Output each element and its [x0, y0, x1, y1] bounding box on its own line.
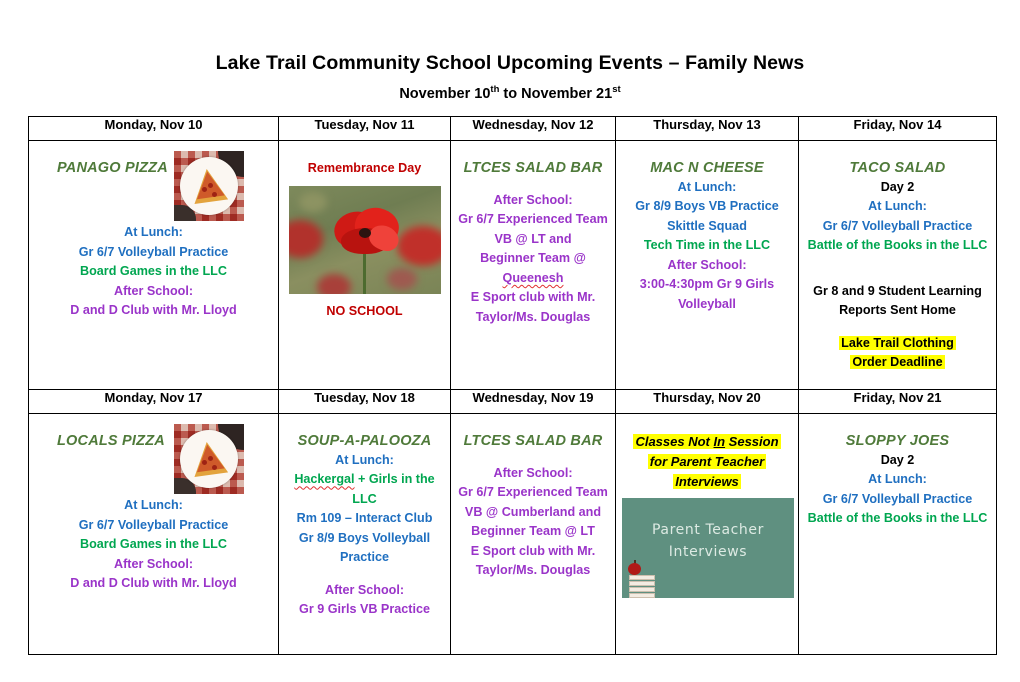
event-line: After School: — [457, 464, 609, 484]
day-header-thu-nov-20: Thursday, Nov 20 — [616, 390, 799, 414]
day-header-fri-nov-14: Friday, Nov 14 — [799, 117, 997, 141]
event-line: Rm 109 – Interact Club — [285, 509, 444, 529]
newsletter-page: Lake Trail Community School Upcoming Eve… — [0, 0, 1020, 682]
highlighted-notice: Classes Not In Session — [622, 432, 792, 452]
event-line: Volleyball — [622, 295, 792, 315]
day-header-tue-nov-18: Tuesday, Nov 18 — [279, 390, 451, 414]
event-line: Gr 6/7 Experienced Team — [457, 483, 609, 503]
poppy-field-image — [289, 186, 441, 294]
event-line: After School: — [285, 581, 444, 601]
week2-header-row: Monday, Nov 17 Tuesday, Nov 18 Wednesday… — [29, 390, 997, 414]
event-line: Taylor/Ms. Douglas — [457, 308, 609, 328]
lunch-menu-label: LTCES SALAD BAR — [457, 432, 609, 451]
event-line: At Lunch: — [285, 451, 444, 471]
no-school-label: NO SCHOOL — [285, 302, 444, 322]
event-line: At Lunch: — [805, 470, 990, 490]
lunch-menu-label: SLOPPY JOES — [805, 432, 990, 451]
event-line: Taylor/Ms. Douglas — [457, 561, 609, 581]
day-header-thu-nov-13: Thursday, Nov 13 — [616, 117, 799, 141]
event-line: 3:00-4:30pm Gr 9 Girls — [622, 275, 792, 295]
pizza-slice-icon — [174, 424, 244, 494]
lunch-menu-label: MAC N CHEESE — [622, 159, 792, 178]
event-line: After School: — [35, 282, 272, 302]
event-line: Day 2 — [805, 451, 990, 471]
event-line: Gr 6/7 Volleyball Practice — [805, 217, 990, 237]
highlight-text: Order Deadline — [850, 355, 944, 369]
event-line: VB @ LT and — [457, 230, 609, 250]
day-cell-thu-nov-20: Classes Not In Session for Parent Teache… — [616, 414, 799, 655]
day-cell-wed-nov-12: LTCES SALAD BAR After School: Gr 6/7 Exp… — [451, 141, 616, 390]
remembrance-day-label: Remembrance Day — [285, 159, 444, 179]
event-line: Day 2 — [805, 178, 990, 198]
date-range-start: November 10 — [399, 86, 490, 102]
day-cell-fri-nov-14: TACO SALAD Day 2 At Lunch: Gr 6/7 Volley… — [799, 141, 997, 390]
event-line: Tech Time in the LLC — [622, 236, 792, 256]
notice-post: Session — [725, 434, 778, 449]
pizza-slice-icon — [174, 151, 244, 221]
chalkboard-line: Parent Teacher — [622, 520, 794, 542]
day-cell-fri-nov-21: SLOPPY JOES Day 2 At Lunch: Gr 6/7 Volle… — [799, 414, 997, 655]
day-header-mon-nov-17: Monday, Nov 17 — [29, 390, 279, 414]
event-line: At Lunch: — [35, 223, 272, 243]
event-line: Gr 6/7 Volleyball Practice — [805, 490, 990, 510]
highlight-text: Interviews — [673, 474, 741, 489]
event-line: At Lunch: — [35, 496, 272, 516]
event-line: Skittle Squad — [622, 217, 792, 237]
week1-content-row: PANAGO PIZZA At Lunch: Gr 6/7 Volleyball… — [29, 141, 997, 390]
week1-header-row: Monday, Nov 10 Tuesday, Nov 11 Wednesday… — [29, 117, 997, 141]
highlight-text: Lake Trail Clothing — [839, 336, 956, 350]
event-line-suffix: + Girls in the — [355, 472, 435, 486]
event-line: After School: — [35, 555, 272, 575]
event-line: Gr 6/7 Experienced Team — [457, 210, 609, 230]
event-line: Gr 8/9 Boys VB Practice — [622, 197, 792, 217]
event-line: Gr 6/7 Volleyball Practice — [35, 243, 272, 263]
event-line: Practice — [285, 548, 444, 568]
event-line-misspelled: Queenesh — [457, 269, 609, 289]
event-line: Beginner Team @ — [457, 249, 609, 269]
lunch-menu-label: LOCALS PIZZA — [57, 432, 165, 451]
notice-line: Reports Sent Home — [805, 301, 990, 321]
event-line-misspelled: Hackergal + Girls in the — [285, 470, 444, 490]
day-cell-tue-nov-18: SOUP-A-PALOOZA At Lunch: Hackergal + Gir… — [279, 414, 451, 655]
day-header-fri-nov-21: Friday, Nov 21 — [799, 390, 997, 414]
day-cell-tue-nov-11: Remembrance Day NO SCHOOL — [279, 141, 451, 390]
event-line: Beginner Team @ LT — [457, 522, 609, 542]
highlighted-notice: Interviews — [622, 472, 792, 492]
event-line: After School: — [622, 256, 792, 276]
highlighted-notice: for Parent Teacher — [622, 452, 792, 472]
event-line: Board Games in the LLC — [35, 262, 272, 282]
event-line: Board Games in the LLC — [35, 535, 272, 555]
highlight-text: Classes Not In Session — [633, 434, 780, 449]
lunch-menu-label: TACO SALAD — [805, 159, 990, 178]
misspelled-word: Queenesh — [503, 271, 564, 285]
calendar: Monday, Nov 10 Tuesday, Nov 11 Wednesday… — [28, 116, 996, 655]
lunch-menu-label: PANAGO PIZZA — [57, 159, 168, 178]
lunch-menu-label: LTCES SALAD BAR — [457, 159, 609, 178]
event-line: After School: — [457, 191, 609, 211]
highlighted-notice: Order Deadline — [805, 353, 990, 373]
notice-emphasis: In — [714, 434, 726, 449]
event-line: Battle of the Books in the LLC — [805, 236, 990, 256]
notice-pre: Classes Not — [635, 434, 713, 449]
lunch-menu-label: SOUP-A-PALOOZA — [285, 432, 444, 451]
day-header-wed-nov-19: Wednesday, Nov 19 — [451, 390, 616, 414]
menu-row: LOCALS PIZZA — [35, 424, 272, 496]
day-cell-mon-nov-10: PANAGO PIZZA At Lunch: Gr 6/7 Volleyball… — [29, 141, 279, 390]
page-date-range: November 10th to November 21st — [0, 84, 1020, 103]
date-ordinal-2: st — [612, 84, 620, 95]
misspelled-word: Hackergal — [294, 472, 354, 486]
day-header-tue-nov-11: Tuesday, Nov 11 — [279, 117, 451, 141]
event-line: VB @ Cumberland and — [457, 503, 609, 523]
highlight-text: for Parent Teacher — [648, 454, 766, 469]
event-line: E Sport club with Mr. — [457, 542, 609, 562]
day-header-wed-nov-12: Wednesday, Nov 12 — [451, 117, 616, 141]
event-line: At Lunch: — [622, 178, 792, 198]
notice-line: Gr 8 and 9 Student Learning — [805, 282, 990, 302]
chalkboard-line: Interviews — [622, 542, 794, 564]
chalkboard-image: Parent Teacher Interviews — [622, 498, 794, 598]
date-range-mid: to November 21 — [499, 86, 612, 102]
calendar-table: Monday, Nov 10 Tuesday, Nov 11 Wednesday… — [28, 116, 997, 655]
day-cell-thu-nov-13: MAC N CHEESE At Lunch: Gr 8/9 Boys VB Pr… — [616, 141, 799, 390]
page-title: Lake Trail Community School Upcoming Eve… — [0, 52, 1020, 75]
event-line: Gr 8/9 Boys Volleyball — [285, 529, 444, 549]
event-line: D and D Club with Mr. Lloyd — [35, 574, 272, 594]
chalkboard-text: Parent Teacher Interviews — [622, 498, 794, 563]
event-line: LLC — [285, 490, 444, 510]
event-line: Gr 6/7 Volleyball Practice — [35, 516, 272, 536]
menu-row: PANAGO PIZZA — [35, 151, 272, 223]
page-header: Lake Trail Community School Upcoming Eve… — [0, 0, 1020, 104]
event-line: Battle of the Books in the LLC — [805, 509, 990, 529]
event-line: E Sport club with Mr. — [457, 288, 609, 308]
highlighted-notice: Lake Trail Clothing — [805, 334, 990, 354]
day-header-mon-nov-10: Monday, Nov 10 — [29, 117, 279, 141]
event-line: Gr 9 Girls VB Practice — [285, 600, 444, 620]
event-line: D and D Club with Mr. Lloyd — [35, 301, 272, 321]
day-cell-mon-nov-17: LOCALS PIZZA At Lunch: Gr 6/7 Volleyball… — [29, 414, 279, 655]
week2-content-row: LOCALS PIZZA At Lunch: Gr 6/7 Volleyball… — [29, 414, 997, 655]
event-line: At Lunch: — [805, 197, 990, 217]
day-cell-wed-nov-19: LTCES SALAD BAR After School: Gr 6/7 Exp… — [451, 414, 616, 655]
